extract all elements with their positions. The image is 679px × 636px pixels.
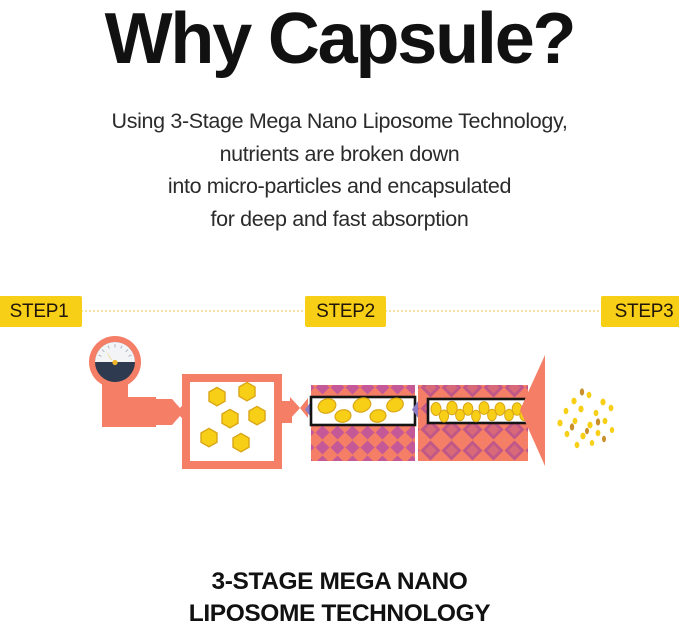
subtitle-line-2: nutrients are broken down (0, 138, 679, 171)
step-badge-2-label: STEP2 (316, 301, 375, 323)
process-illustration (0, 335, 679, 500)
step-badge-2[interactable]: STEP2 (305, 296, 386, 327)
step-badge-1-label: STEP1 (10, 301, 69, 323)
step-badge-3[interactable]: STEP3 (601, 296, 679, 327)
step-badge-1[interactable]: STEP1 (0, 296, 82, 327)
subtitle-line-1: Using 3-Stage Mega Nano Liposome Technol… (0, 105, 679, 138)
page-root: Why Capsule? Using 3-Stage Mega Nano Lip… (0, 0, 679, 636)
subtitle-block: Using 3-Stage Mega Nano Liposome Technol… (0, 105, 679, 235)
stage2-tube (311, 385, 415, 461)
pressure-gauge-icon (89, 336, 141, 388)
nano-particle-spray (557, 388, 614, 448)
subtitle-line-3: into micro-particles and encapsulated (0, 170, 679, 203)
page-title: Why Capsule? (0, 0, 679, 82)
technology-caption: 3-STAGE MEGA NANO LIPOSOME TECHNOLOGY (0, 566, 679, 630)
stage1-chamber (182, 374, 308, 469)
step-progress-bar: STEP1 STEP2 STEP3 (0, 296, 679, 330)
stage3-tube (418, 385, 530, 461)
step-badge-3-label: STEP3 (615, 301, 674, 323)
caption-line-2: LIPOSOME TECHNOLOGY (0, 598, 679, 630)
caption-line-1: 3-STAGE MEGA NANO (0, 566, 679, 598)
subtitle-line-4: for deep and fast absorption (0, 203, 679, 236)
